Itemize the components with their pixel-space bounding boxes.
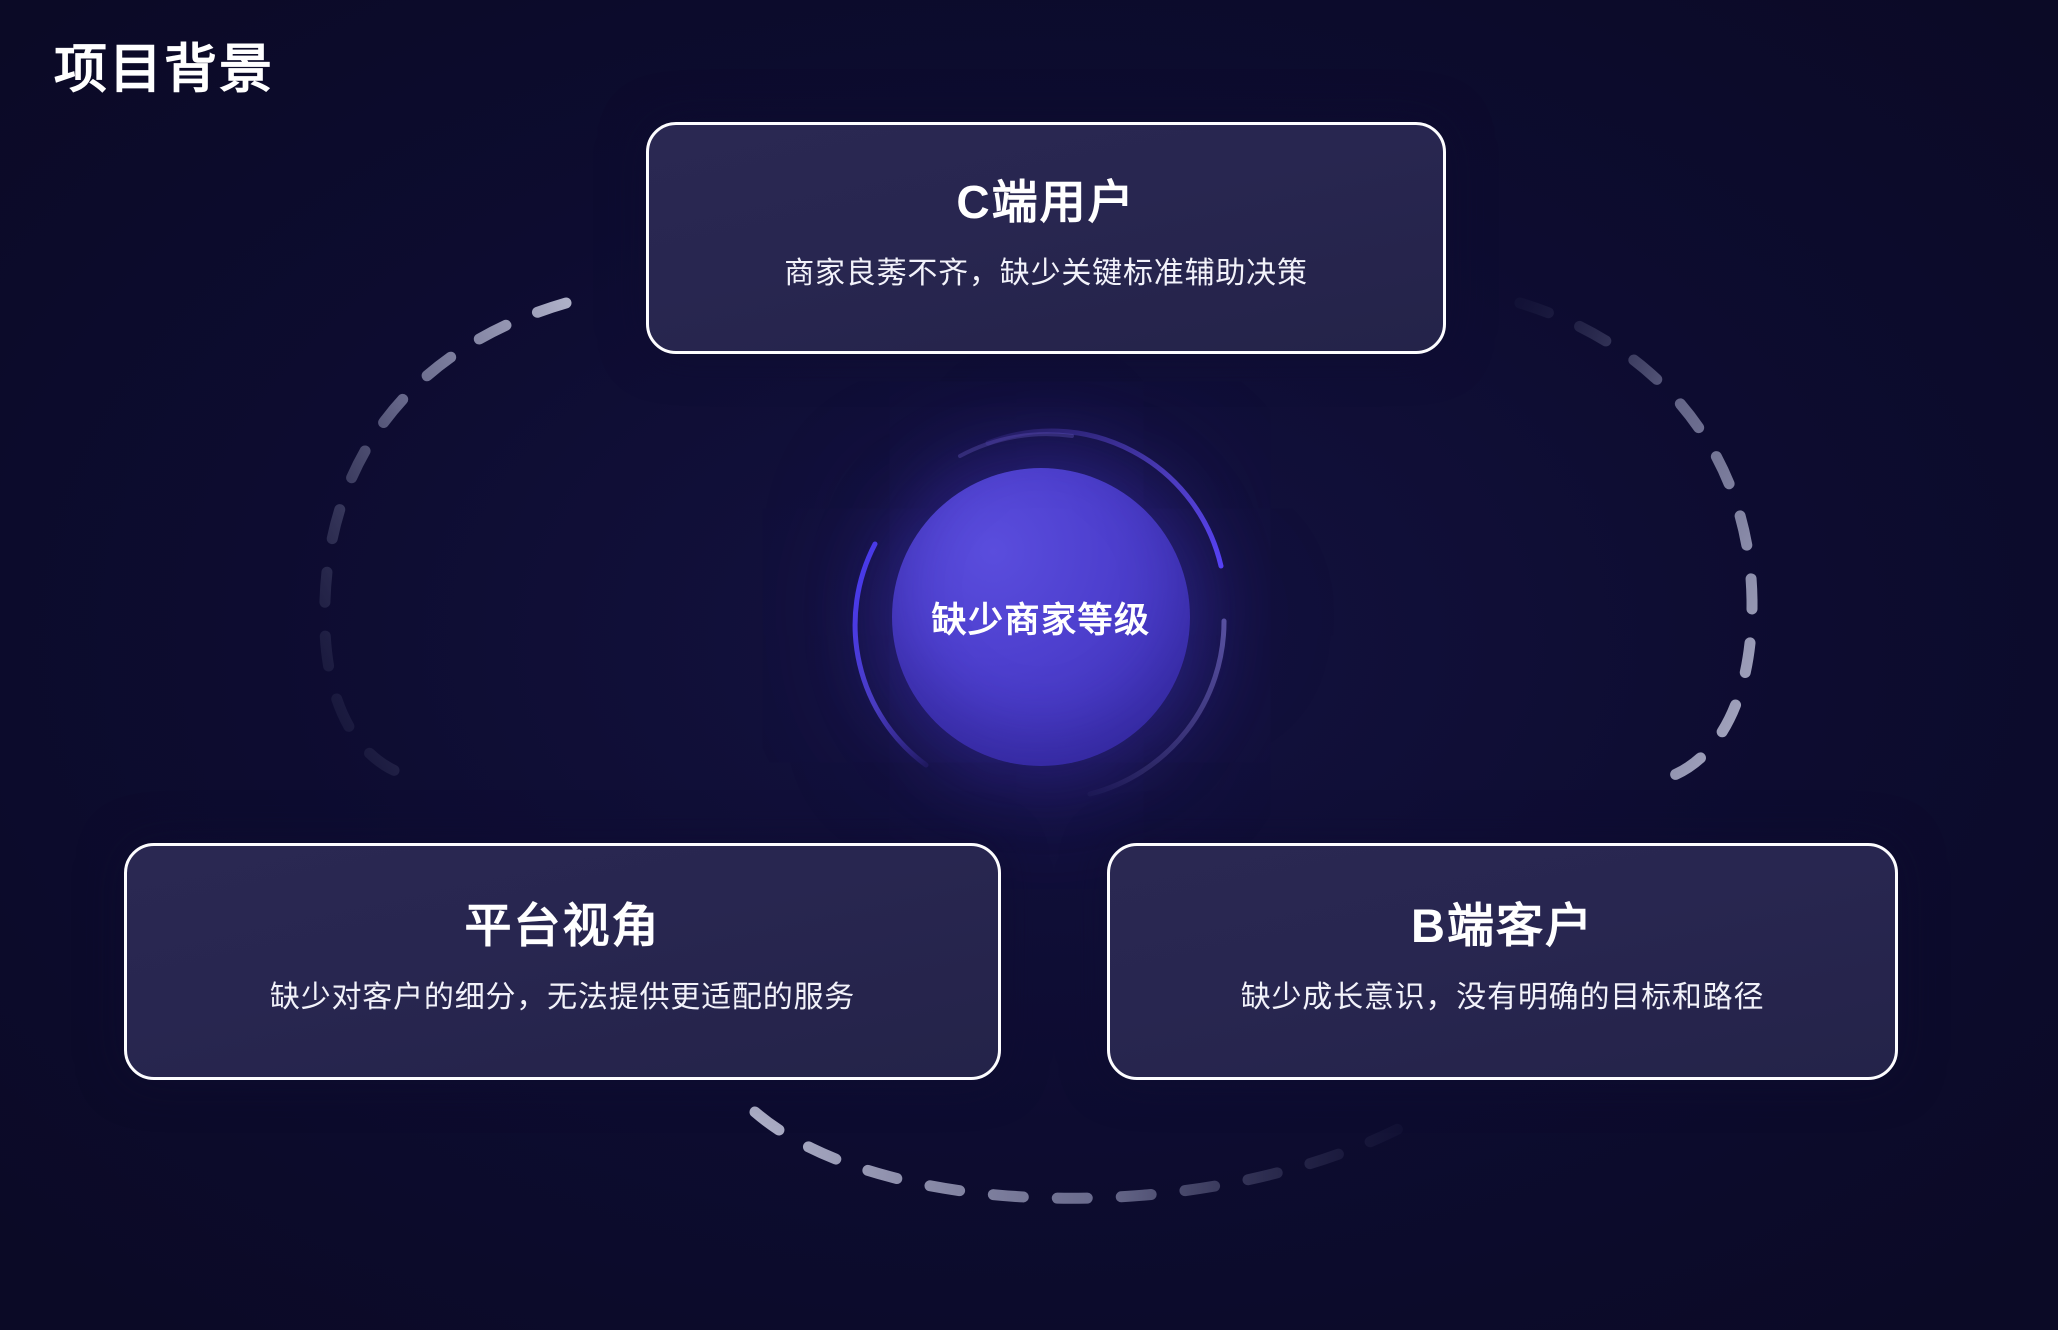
arc-left-path — [325, 303, 566, 773]
center-label: 缺少商家等级 — [931, 592, 1150, 643]
card-description-platform-perspective: 缺少对客户的细分，无法提供更适配的服务 — [270, 978, 855, 1019]
card-platform-perspective[interactable]: 平台视角 缺少对客户的细分，无法提供更适配的服务 — [124, 843, 1001, 1080]
page-title: 项目背景 — [54, 38, 274, 102]
card-description-c-end-user: 商家良莠不齐，缺少关键标准辅助决策 — [784, 254, 1308, 295]
slide-canvas: 项目背景 — [0, 0, 2058, 1330]
center-circle: 缺少商家等级 — [892, 468, 1190, 766]
card-title-b-end-client: B端客户 — [1411, 897, 1594, 956]
arc-bottom-path — [755, 1112, 1400, 1198]
card-title-platform-perspective: 平台视角 — [465, 897, 661, 956]
card-description-b-end-client: 缺少成长意识，没有明确的目标和路径 — [1241, 978, 1765, 1019]
ring-arc-outer-top — [960, 434, 1072, 456]
card-title-c-end-user: C端用户 — [956, 174, 1135, 232]
card-c-end-user[interactable]: C端用户 商家良莠不齐，缺少关键标准辅助决策 — [646, 122, 1446, 354]
arc-right-path — [1520, 303, 1752, 776]
card-b-end-client[interactable]: B端客户 缺少成长意识，没有明确的目标和路径 — [1107, 843, 1898, 1080]
center-node: 缺少商家等级 — [876, 452, 1206, 782]
